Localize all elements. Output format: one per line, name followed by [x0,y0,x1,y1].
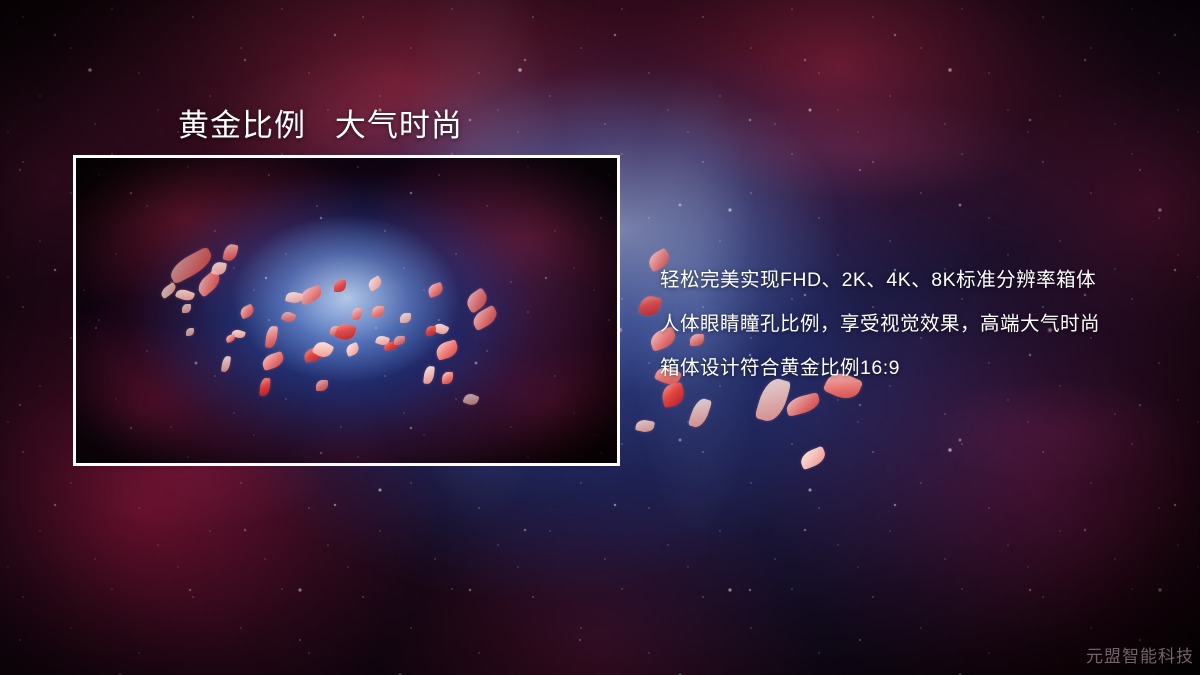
company-watermark: 元盟智能科技 [1086,642,1194,667]
hero-image-vignette [76,158,617,463]
body-line-2: 人体眼睛瞳孔比例，享受视觉效果，高端大气时尚 [660,302,1180,346]
petal-shape [638,294,662,318]
hero-image-frame [73,155,620,466]
slide-canvas: 黄金比例 大气时尚 轻松完美实现FHD、2K、4K、8K标准分辨率箱体 人体眼睛… [0,0,1200,675]
petal-shape [688,396,712,429]
body-line-3: 箱体设计符合黄金比例16:9 [660,346,1180,390]
petal-shape [798,446,828,471]
petal-shape [635,418,655,433]
slide-title: 黄金比例 大气时尚 [178,100,463,145]
body-copy-block: 轻松完美实现FHD、2K、4K、8K标准分辨率箱体 人体眼睛瞳孔比例，享受视觉效… [660,258,1180,390]
body-line-1: 轻松完美实现FHD、2K、4K、8K标准分辨率箱体 [660,258,1180,302]
petal-shape [784,392,821,417]
